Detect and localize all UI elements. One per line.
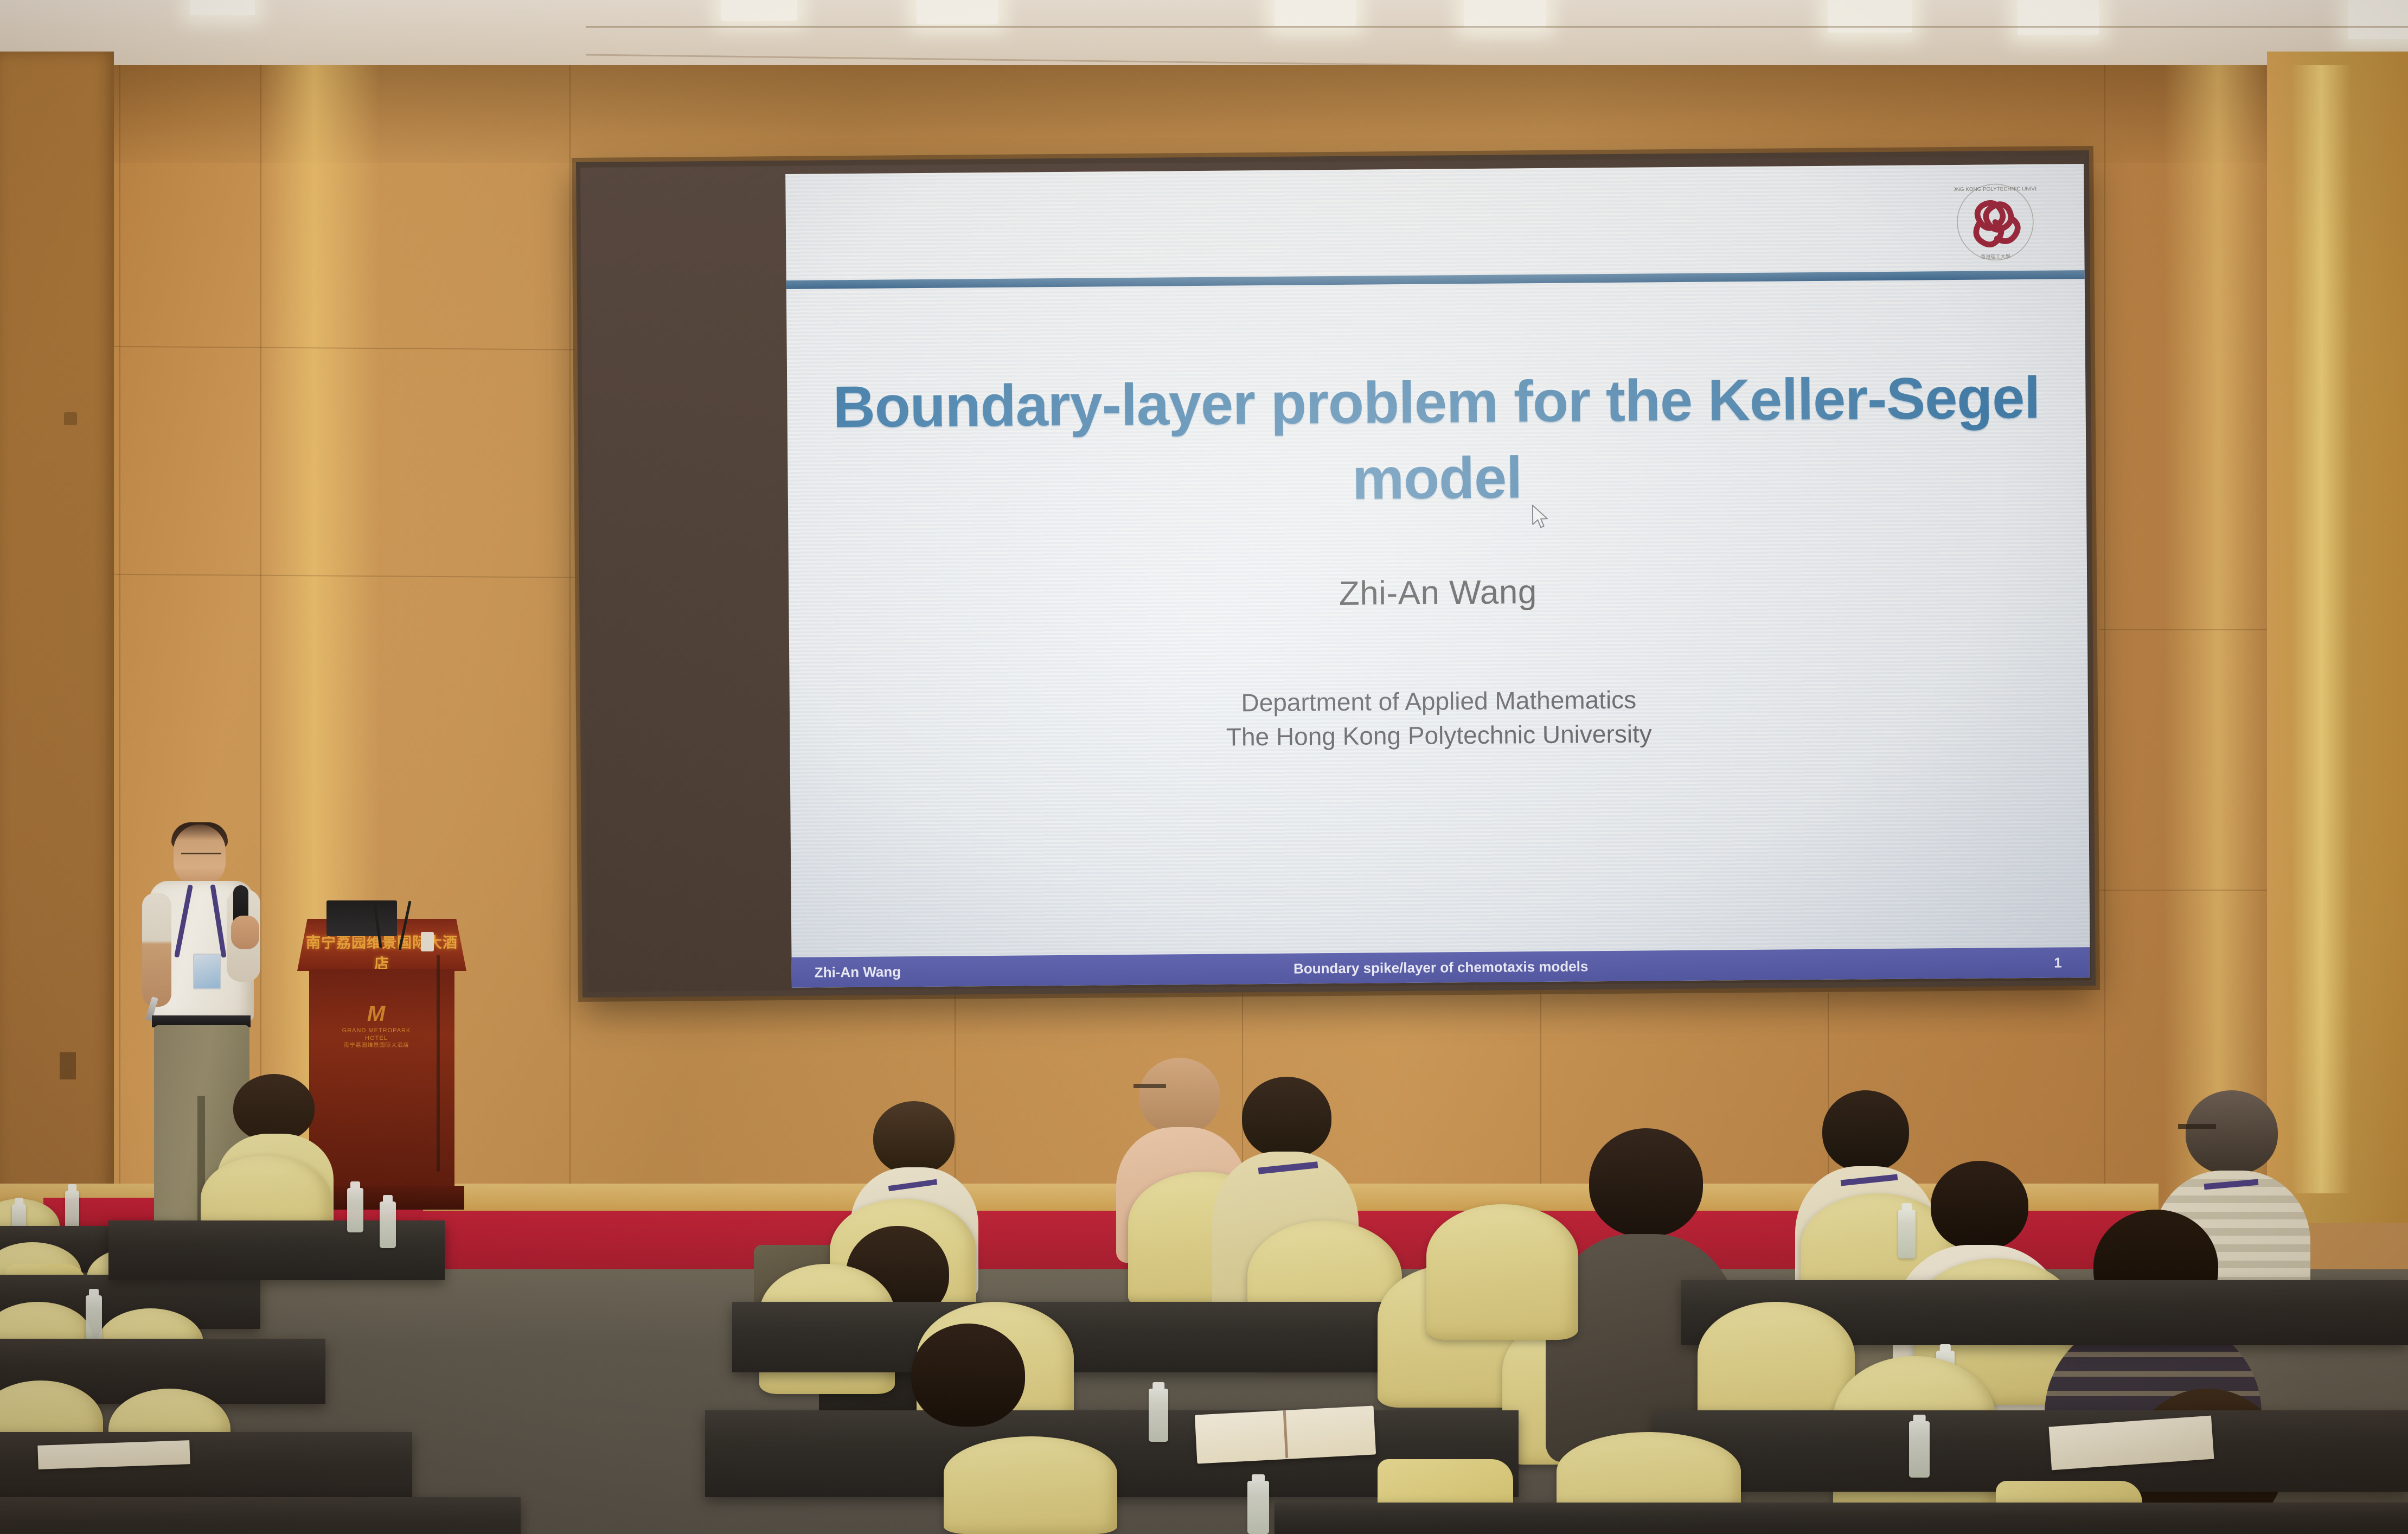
person-head — [873, 1101, 955, 1174]
water-bottle — [1149, 1389, 1168, 1442]
wall-seam — [119, 65, 120, 1210]
chair — [1426, 1204, 1578, 1340]
name-badge — [193, 954, 221, 989]
podium-brand-logo: M GRAND METROPARK HOTEL 南宁荔园维景国际大酒店 — [342, 1000, 411, 1049]
ceiling-light — [917, 0, 998, 24]
water-bottle — [1247, 1481, 1269, 1534]
footer-running-title: Boundary spike/layer of chemotaxis model… — [792, 954, 2090, 981]
footer-page-number: 1 — [2054, 954, 2062, 971]
podium-brand-line-1: GRAND METROPARK HOTEL — [342, 1027, 411, 1043]
wall-seam — [1540, 993, 1541, 1210]
ceiling-light — [1275, 0, 1356, 26]
person-head — [1931, 1161, 2028, 1250]
water-bottle — [347, 1188, 363, 1232]
person-head — [1139, 1058, 1220, 1134]
ceiling-light — [1464, 0, 1546, 28]
podium-paper — [421, 932, 434, 951]
podium-laptop — [326, 900, 397, 936]
ceiling-light — [721, 0, 797, 21]
podium-brand-monogram: M — [342, 1000, 411, 1027]
ceiling-light — [2348, 0, 2408, 39]
ceiling-light — [2018, 0, 2099, 35]
water-bottle — [380, 1201, 396, 1248]
podium-brand-line-2: 南宁荔园维景国际大酒店 — [342, 1043, 411, 1050]
presentation-slide: THE HONG KONG POLYTECHNIC UNIVERSITY 香港理… — [785, 164, 2090, 988]
person-head — [1822, 1090, 1909, 1172]
person-head — [1242, 1077, 1331, 1158]
screen-vignette — [785, 164, 2090, 988]
right-wall-light-column — [2291, 65, 2351, 1193]
projector-dark-surround: 退出播放 THE HONG KONG POLYTECHNIC UNIVERSIT… — [580, 156, 2091, 992]
person-head — [1589, 1128, 1703, 1237]
left-side-wall — [0, 52, 114, 1234]
wall-outlet — [60, 1052, 76, 1079]
podium-cable — [437, 955, 440, 1172]
water-bottle — [1898, 1210, 1916, 1258]
wall-seam — [2104, 65, 2105, 1210]
table-row — [732, 1302, 1459, 1372]
conference-room-photo: 退出播放 THE HONG KONG POLYTECHNIC UNIVERSIT… — [0, 0, 2408, 1534]
water-bottle — [1909, 1421, 1930, 1478]
projection-screen: 退出播放 THE HONG KONG POLYTECHNIC UNIVERSIT… — [576, 150, 2096, 998]
water-bottle — [65, 1191, 79, 1230]
wall-highlight-right — [2164, 65, 2272, 1210]
eyeglasses-icon — [1133, 1084, 1166, 1088]
ceiling-light — [190, 0, 255, 15]
ceiling-seam — [586, 26, 2408, 28]
water-bottle — [86, 1295, 102, 1341]
person-head — [911, 1324, 1025, 1427]
presenter-left-arm — [142, 893, 171, 1007]
wall-fixture — [64, 412, 77, 425]
table-row — [1654, 1410, 2408, 1492]
eyeglasses-icon — [181, 853, 221, 863]
ceiling-light — [1828, 0, 1912, 33]
table-row — [0, 1497, 521, 1534]
podium-venue-sign: 南宁荔园维景国际大酒店 — [305, 931, 459, 973]
presenter-hand — [231, 916, 259, 949]
person-head — [2186, 1090, 2278, 1174]
chair — [944, 1436, 1117, 1534]
wall-seam — [569, 65, 571, 1210]
eyeglasses-icon — [2178, 1124, 2216, 1129]
wall-seam — [955, 993, 956, 1210]
person-head — [233, 1074, 315, 1142]
table-row — [1275, 1503, 2408, 1534]
